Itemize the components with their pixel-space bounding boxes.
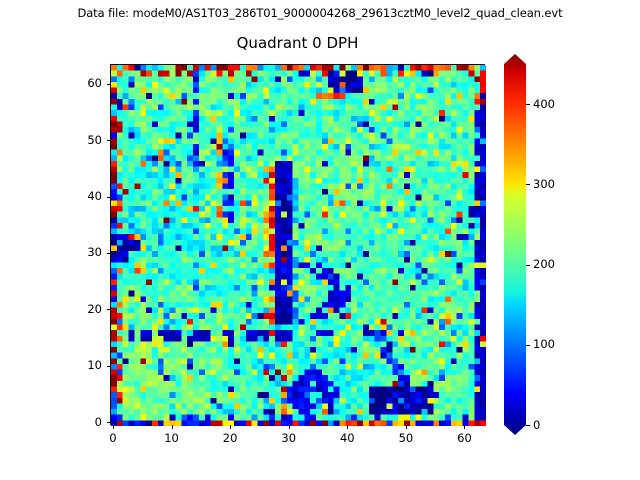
x-tick-mark bbox=[289, 425, 290, 429]
colorbar-tick-label: 100 bbox=[533, 337, 555, 351]
heatmap-axes[interactable] bbox=[110, 64, 485, 425]
y-tick-mark bbox=[107, 422, 111, 423]
x-tick-label: 0 bbox=[93, 431, 133, 445]
x-tick-label: 20 bbox=[210, 431, 250, 445]
y-tick-label: 60 bbox=[62, 76, 102, 90]
x-tick-label: 50 bbox=[386, 431, 426, 445]
x-tick-label: 30 bbox=[269, 431, 309, 445]
y-tick-mark bbox=[107, 140, 111, 141]
colorbar-tick-label: 400 bbox=[533, 97, 555, 111]
x-tick-label: 10 bbox=[152, 431, 192, 445]
y-tick-label: 50 bbox=[62, 133, 102, 147]
x-tick-mark bbox=[347, 425, 348, 429]
figure-canvas: Data file: modeM0/AS1T03_286T01_90000042… bbox=[0, 0, 640, 480]
colorbar-tick-label: 0 bbox=[533, 418, 540, 432]
x-tick-mark bbox=[464, 425, 465, 429]
colorbar-tick-mark bbox=[526, 425, 530, 426]
y-tick-label: 10 bbox=[62, 358, 102, 372]
colorbar[interactable] bbox=[504, 64, 526, 425]
colorbar-tick-mark bbox=[526, 184, 530, 185]
x-tick-label: 40 bbox=[327, 431, 367, 445]
x-tick-mark bbox=[172, 425, 173, 429]
x-tick-mark bbox=[406, 425, 407, 429]
y-tick-mark bbox=[107, 84, 111, 85]
y-tick-mark bbox=[107, 197, 111, 198]
y-tick-label: 30 bbox=[62, 245, 102, 259]
data-file-suptitle: Data file: modeM0/AS1T03_286T01_90000042… bbox=[0, 6, 640, 20]
y-tick-label: 20 bbox=[62, 302, 102, 316]
heatmap-image[interactable] bbox=[111, 65, 486, 426]
y-tick-label: 40 bbox=[62, 189, 102, 203]
axes-title: Quadrant 0 DPH bbox=[110, 34, 485, 52]
colorbar-tick-mark bbox=[526, 345, 530, 346]
colorbar-gradient bbox=[500, 54, 530, 435]
colorbar-tick-mark bbox=[526, 104, 530, 105]
x-tick-mark bbox=[230, 425, 231, 429]
colorbar-tick-mark bbox=[526, 265, 530, 266]
y-tick-mark bbox=[107, 309, 111, 310]
y-tick-mark bbox=[107, 366, 111, 367]
y-tick-mark bbox=[107, 253, 111, 254]
x-tick-mark bbox=[113, 425, 114, 429]
y-tick-label: 0 bbox=[62, 415, 102, 429]
colorbar-tick-label: 300 bbox=[533, 177, 555, 191]
colorbar-tick-label: 200 bbox=[533, 257, 555, 271]
x-tick-label: 60 bbox=[444, 431, 484, 445]
